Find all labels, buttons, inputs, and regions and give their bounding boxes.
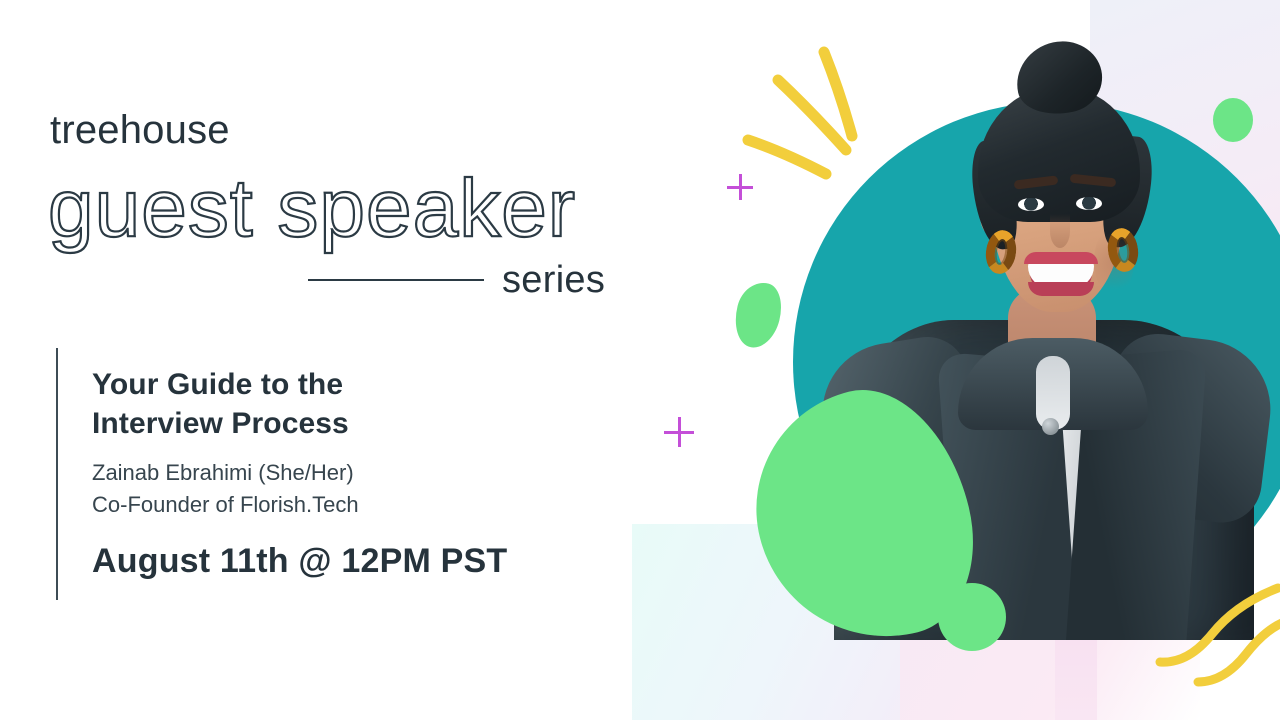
session-title: Your Guide to the Interview Process <box>92 366 652 443</box>
speaker-details: Zainab Ebrahimi (She/Her) Co-Founder of … <box>92 457 652 519</box>
eye-left <box>1018 198 1044 211</box>
series-row: series <box>308 258 638 302</box>
green-dot <box>938 583 1006 651</box>
upper-lip <box>1024 252 1098 264</box>
magenta-plus-mark-icon <box>727 174 753 200</box>
svg-text:guest speaker: guest speaker <box>48 163 576 254</box>
nose <box>1050 214 1070 248</box>
guest-speaker-promo-slide: treehouse guest speaker series Your Guid… <box>0 0 1280 720</box>
magenta-plus-mark-icon <box>664 417 694 447</box>
lower-lip <box>1028 282 1094 296</box>
eye-right <box>1076 197 1102 210</box>
guest-speaker-headline: guest speaker <box>44 160 664 260</box>
green-organic-blob <box>729 278 788 353</box>
speaker-name: Zainab Ebrahimi (She/Her) <box>92 457 652 488</box>
series-divider-rule <box>308 279 484 281</box>
vertical-accent-rule <box>56 348 58 600</box>
yellow-curved-swooshes-icon <box>1150 570 1280 690</box>
treehouse-wordmark: treehouse <box>50 108 230 153</box>
session-title-line-1: Your Guide to the <box>92 366 652 405</box>
session-title-line-2: Interview Process <box>92 405 652 444</box>
session-date-time: August 11th @ 12PM PST <box>92 542 652 581</box>
speaker-role: Co-Founder of Florish.Tech <box>92 489 652 520</box>
green-dot <box>1213 98 1253 142</box>
session-info-block: Your Guide to the Interview Process Zain… <box>92 366 652 581</box>
series-label: series <box>502 259 605 302</box>
jacket-stud <box>1042 418 1059 435</box>
